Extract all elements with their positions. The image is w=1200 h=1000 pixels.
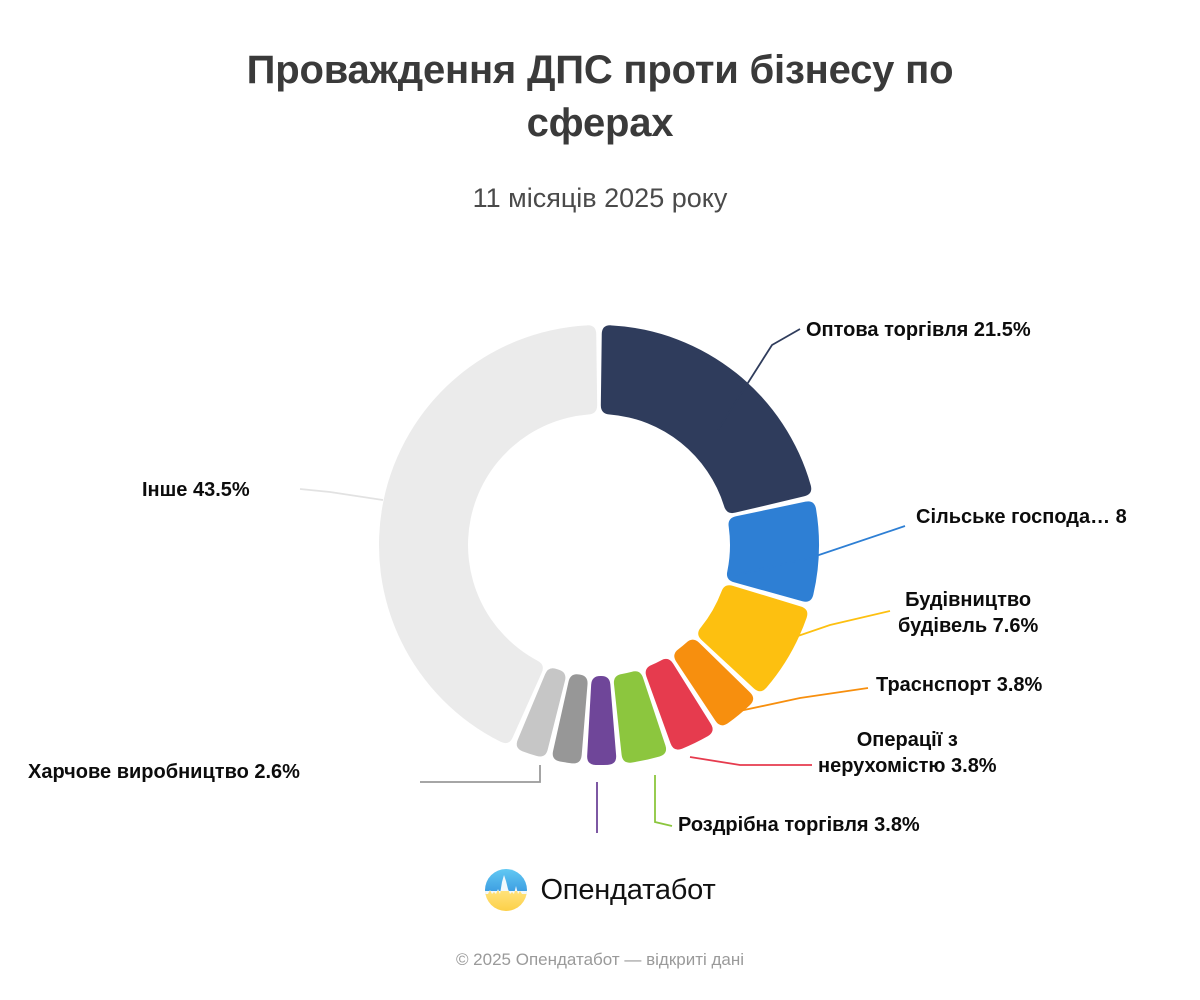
donut-slices[interactable] (379, 325, 819, 765)
slice-label-realestate-line2: нерухомістю 3.8% (818, 755, 997, 777)
slice-label-retail: Роздрібна торгівля 3.8% (678, 813, 920, 839)
leader-line (300, 489, 383, 500)
opendatabot-logo-icon (484, 868, 528, 912)
leader-line (690, 757, 812, 765)
slice-label-agriculture: Сільське господа… 8 (916, 505, 1200, 531)
leader-line (420, 765, 540, 782)
slice-label-other: Інше 43.5% (142, 478, 250, 504)
brand-block: Опендатабот (0, 868, 1200, 912)
chart-canvas: Проваждення ДПС проти бізнесу по сферах … (0, 0, 1200, 1000)
donut-slice[interactable] (601, 325, 811, 513)
footer-copyright: © 2025 Опендатабот — відкриті дані (0, 950, 1200, 970)
slice-label-realestate-line1: Операції з (857, 729, 958, 751)
brand-name: Опендатабот (540, 874, 715, 907)
leader-line (655, 775, 672, 826)
slice-label-construction: Будівництвобудівель 7.6% (898, 588, 1038, 639)
slice-label-construction-line1: Будівництво (905, 589, 1031, 611)
slice-label-food: Харчове виробництво 2.6% (28, 760, 300, 786)
slice-label-wholesale: Оптова торгівля 21.5% (806, 318, 1031, 344)
slice-label-construction-line2: будівель 7.6% (898, 615, 1038, 637)
donut-slice[interactable] (727, 501, 819, 601)
donut-slice[interactable] (587, 676, 616, 765)
slice-label-transport: Траснспорт 3.8% (876, 673, 1042, 699)
slice-label-realestate: Операції знерухомістю 3.8% (818, 728, 997, 779)
